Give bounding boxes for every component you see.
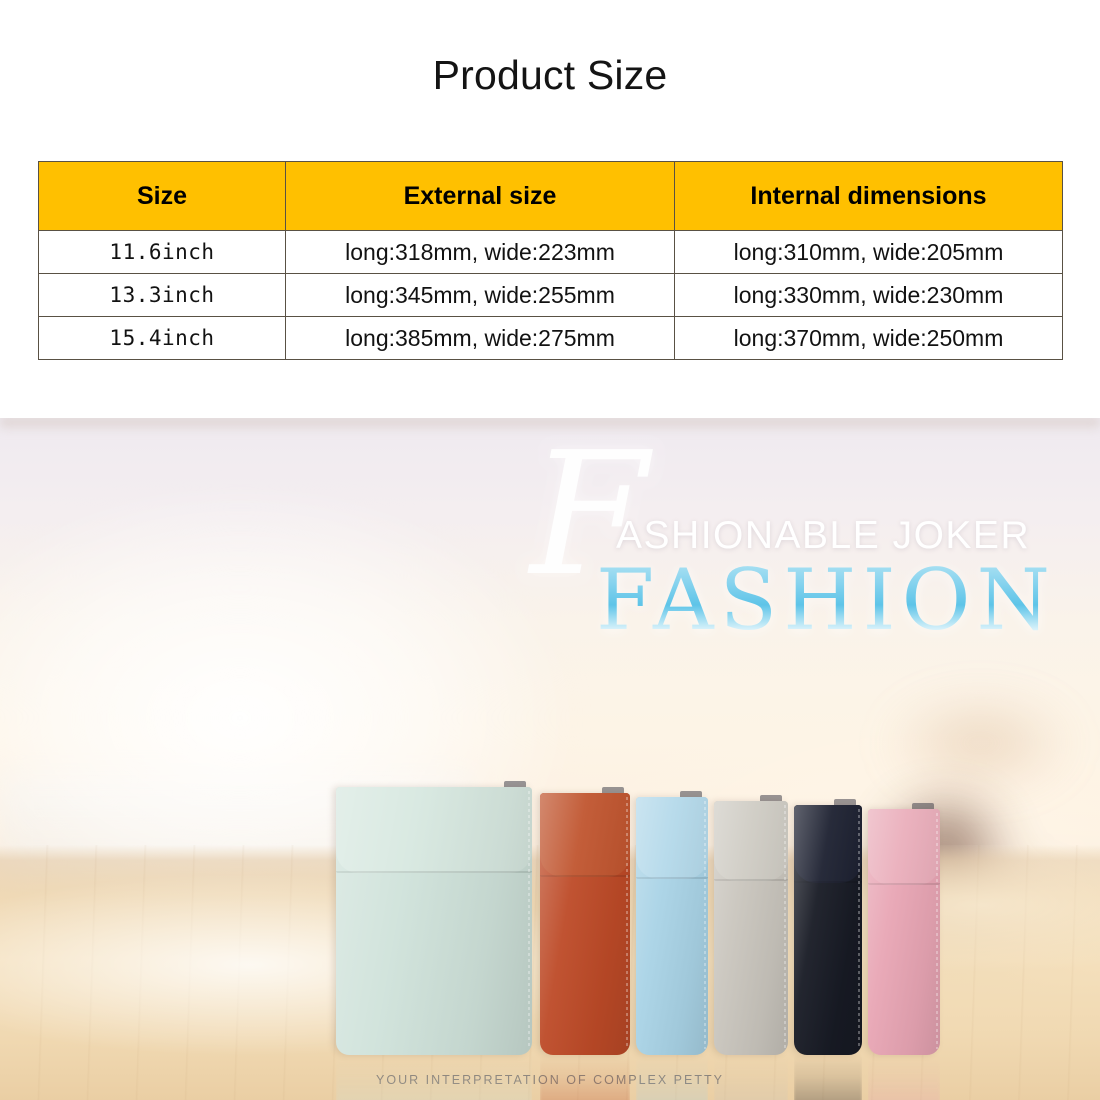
mint-green-sleeve bbox=[336, 787, 532, 1055]
product-hero-image: F ASHIONABLE JOKER FASHION YOUR INTERPRE… bbox=[0, 418, 1100, 1100]
product-size-section: Product Size Size External size Internal… bbox=[0, 0, 1100, 418]
column-header-external-size: External size bbox=[286, 162, 675, 231]
cell-external-size: long:385mm, wide:275mm bbox=[286, 317, 675, 360]
light-gray-sleeve-sheen bbox=[714, 801, 788, 1055]
black-navy-sleeve-reflection bbox=[794, 1053, 862, 1100]
pink-sleeve bbox=[868, 809, 940, 1055]
rust-orange-sleeve bbox=[540, 793, 630, 1055]
column-header-size: Size bbox=[39, 162, 286, 231]
table-row: 11.6inch long:318mm, wide:223mm long:310… bbox=[39, 231, 1063, 274]
page-title: Product Size bbox=[0, 52, 1100, 99]
cell-external-size: long:318mm, wide:223mm bbox=[286, 231, 675, 274]
light-gray-sleeve-reflection bbox=[714, 1053, 788, 1100]
table-row: 13.3inch long:345mm, wide:255mm long:330… bbox=[39, 274, 1063, 317]
table-header-row: Size External size Internal dimensions bbox=[39, 162, 1063, 231]
product-size-table: Size External size Internal dimensions 1… bbox=[38, 161, 1063, 360]
cell-size: 15.4inch bbox=[39, 317, 286, 360]
mint-green-sleeve-stitching bbox=[528, 791, 530, 1049]
cell-internal-dimensions: long:370mm, wide:250mm bbox=[675, 317, 1063, 360]
pink-sleeve-sheen bbox=[868, 809, 940, 1055]
cell-external-size: long:345mm, wide:255mm bbox=[286, 274, 675, 317]
product-sleeve-group bbox=[0, 418, 1100, 1100]
black-navy-sleeve-stitching bbox=[858, 809, 860, 1049]
column-header-internal-dimensions: Internal dimensions bbox=[675, 162, 1063, 231]
pink-sleeve-stitching bbox=[936, 813, 938, 1049]
cell-internal-dimensions: long:330mm, wide:230mm bbox=[675, 274, 1063, 317]
table-row: 15.4inch long:385mm, wide:275mm long:370… bbox=[39, 317, 1063, 360]
mint-green-sleeve-sheen bbox=[336, 787, 532, 1055]
black-navy-sleeve-sheen bbox=[794, 805, 862, 1055]
cell-size: 11.6inch bbox=[39, 231, 286, 274]
rust-orange-sleeve-sheen bbox=[540, 793, 630, 1055]
black-navy-sleeve bbox=[794, 805, 862, 1055]
pink-sleeve-reflection bbox=[868, 1053, 940, 1100]
light-gray-sleeve bbox=[714, 801, 788, 1055]
cell-size: 13.3inch bbox=[39, 274, 286, 317]
light-blue-sleeve-sheen bbox=[636, 797, 708, 1055]
light-gray-sleeve-stitching bbox=[784, 805, 786, 1049]
light-blue-sleeve-reflection bbox=[636, 1053, 708, 1100]
rust-orange-sleeve-reflection bbox=[540, 1053, 630, 1100]
light-blue-sleeve-stitching bbox=[704, 801, 706, 1049]
light-blue-sleeve bbox=[636, 797, 708, 1055]
rust-orange-sleeve-stitching bbox=[626, 797, 628, 1049]
mint-green-sleeve-reflection bbox=[336, 1053, 532, 1100]
cell-internal-dimensions: long:310mm, wide:205mm bbox=[675, 231, 1063, 274]
